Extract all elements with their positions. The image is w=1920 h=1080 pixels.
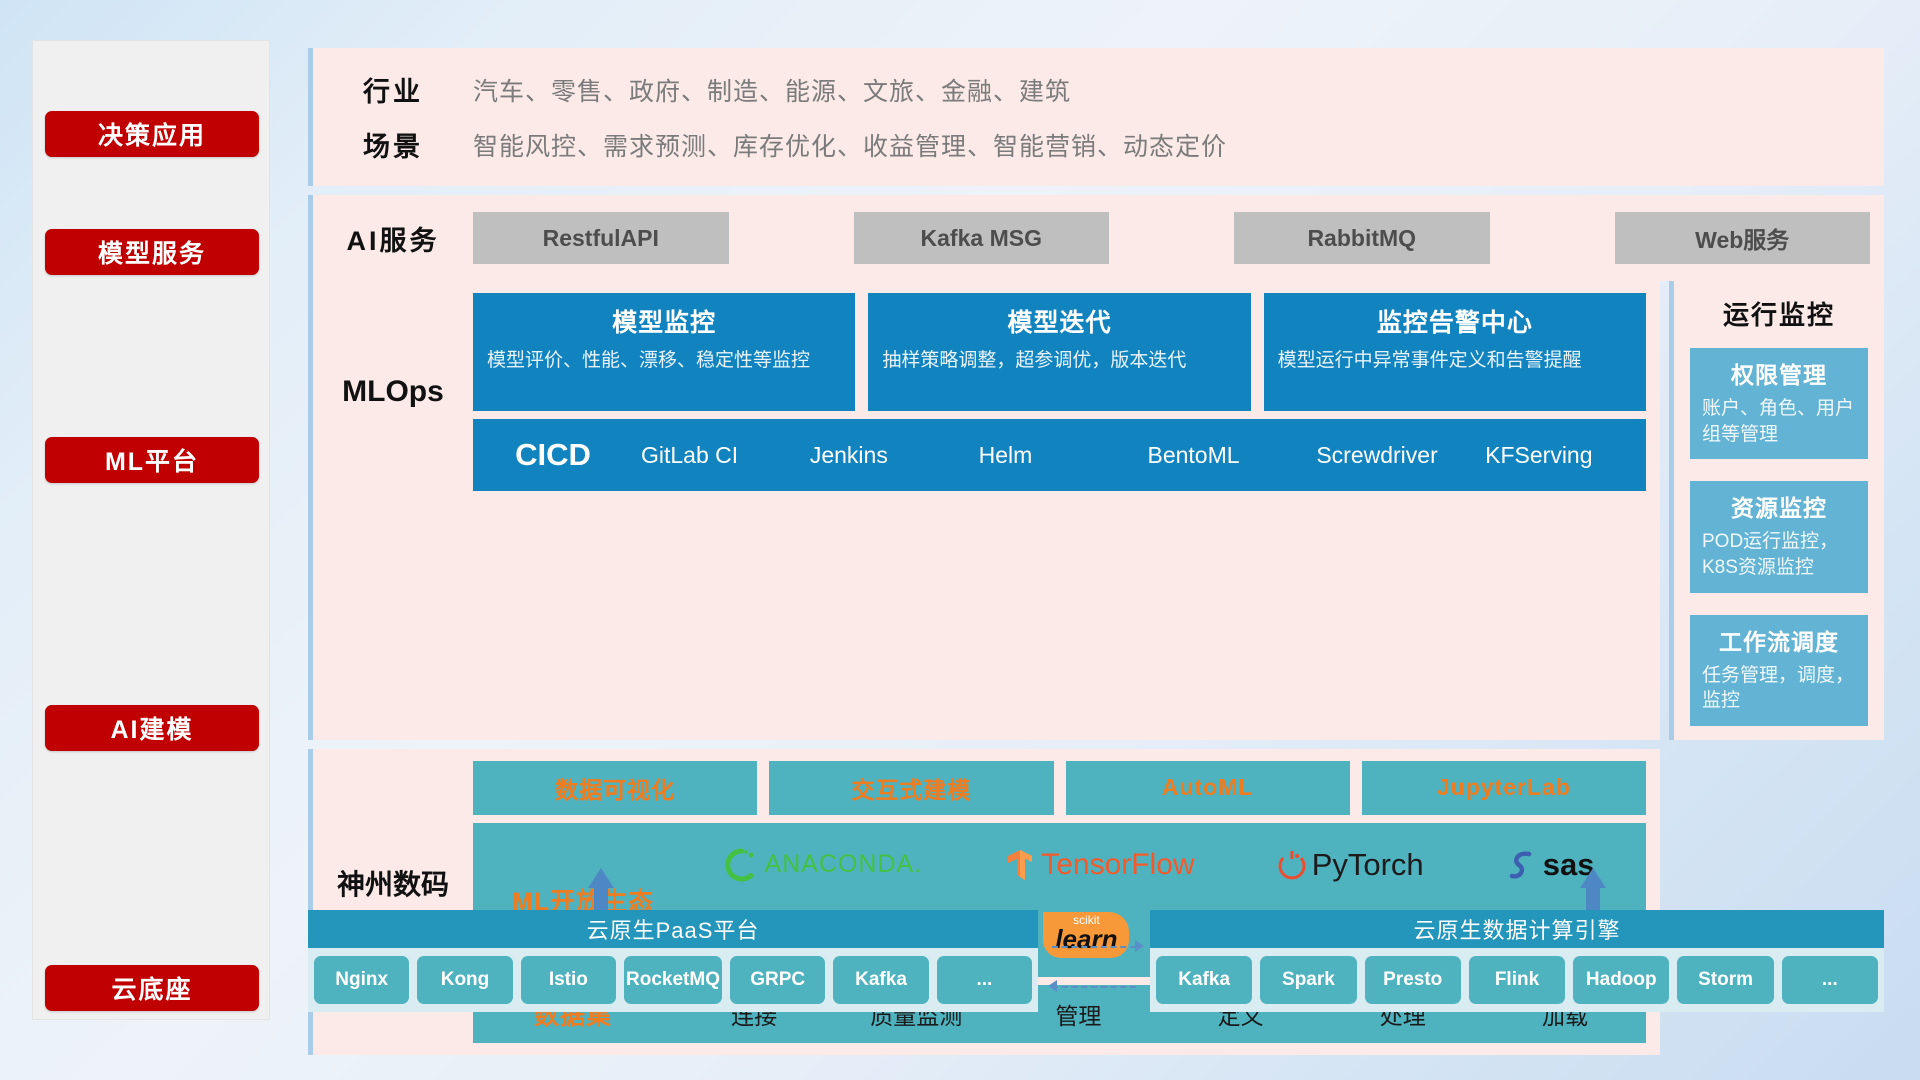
rail-item-cloud-base[interactable]: 云底座 (45, 965, 259, 1011)
ai-services-label: AI服务 (313, 219, 473, 258)
paas-group: 云原生PaaS平台 Nginx Kong Istio RocketMQ GRPC… (308, 910, 1038, 1012)
monitor-card-permission[interactable]: 权限管理 账户、角色、用户组等管理 (1690, 348, 1868, 459)
logo-line-1: ANACONDA. TensorFlow (683, 831, 1636, 899)
anaconda-logo: ANACONDA. (725, 848, 923, 882)
scenario-value: 智能风控、需求预测、库存优化、收益管理、智能营销、动态定价 (473, 127, 1227, 163)
tool-jupyterlab[interactable]: JupyterLab (1362, 761, 1646, 815)
paas-chip-nginx[interactable]: Nginx (314, 956, 409, 1004)
card-title: 工作流调度 (1702, 623, 1856, 657)
card-title: 资源监控 (1702, 489, 1856, 523)
card-desc: 任务管理，调度，监控 (1702, 663, 1856, 714)
scenario-row: 场景 智能风控、需求预测、库存优化、收益管理、智能营销、动态定价 (313, 125, 1884, 164)
rail-item-model-service[interactable]: 模型服务 (45, 229, 259, 275)
mlops-card-alert-center[interactable]: 监控告警中心 模型运行中异常事件定义和告警提醒 (1264, 293, 1646, 411)
card-desc: POD运行监控，K8S资源监控 (1702, 529, 1856, 580)
paas-chip-rocketmq[interactable]: RocketMQ (624, 956, 722, 1004)
rail-item-label: 云底座 (111, 970, 192, 1006)
pytorch-logo: PyTorch (1278, 847, 1424, 883)
cicd-row: CICD GitLab CI Jenkins Helm BentoML Scre… (473, 419, 1646, 491)
cicd-title: CICD (473, 437, 633, 473)
monitor-title: 运行监控 (1690, 295, 1868, 332)
tensorflow-icon (1005, 848, 1035, 882)
cicd-item-kfserving[interactable]: KFServing (1477, 439, 1646, 472)
compute-chip-flink[interactable]: Flink (1469, 956, 1565, 1004)
rail-item-ml-platform[interactable]: ML平台 (45, 437, 259, 483)
compute-chip-hadoop[interactable]: Hadoop (1573, 956, 1669, 1004)
ai-service-restfulapi[interactable]: RestfulAPI (473, 212, 729, 264)
tensorflow-logo: TensorFlow (1005, 848, 1194, 882)
arrow-up-compute-icon (1580, 868, 1606, 910)
rail-item-ai-modeling[interactable]: AI建模 (45, 705, 259, 751)
paas-title: 云原生PaaS平台 (308, 910, 1038, 948)
paas-chip-more[interactable]: ... (937, 956, 1032, 1004)
compute-chip-storm[interactable]: Storm (1677, 956, 1773, 1004)
industry-row: 行业 汽车、零售、政府、制造、能源、文旅、金融、建筑 (313, 70, 1884, 109)
ai-service-web[interactable]: Web服务 (1615, 212, 1871, 264)
mlops-card-model-monitoring[interactable]: 模型监控 模型评价、性能、漂移、稳定性等监控 (473, 293, 855, 411)
compute-group: 云原生数据计算引擎 Kafka Spark Presto Flink Hadoo… (1150, 910, 1884, 1012)
tool-interactive-modeling[interactable]: 交互式建模 (769, 761, 1053, 815)
ai-services-list: RestfulAPI Kafka MSG RabbitMQ Web服务 (473, 212, 1884, 264)
cicd-item-bentoml[interactable]: BentoML (1139, 439, 1308, 472)
paas-chip-kong[interactable]: Kong (417, 956, 512, 1004)
rail-item-label: AI建模 (110, 710, 193, 746)
anaconda-icon (725, 848, 759, 882)
mlops-card-model-iteration[interactable]: 模型迭代 抽样策略调整，超参调优，版本迭代 (868, 293, 1250, 411)
monitor-card-resource[interactable]: 资源监控 POD运行监控，K8S资源监控 (1690, 481, 1868, 592)
compute-chip-presto[interactable]: Presto (1365, 956, 1461, 1004)
mlops-label: MLOps (313, 293, 473, 491)
modeling-tool-list: 数据可视化 交互式建模 AutoML JupyterLab (473, 761, 1646, 815)
rail-item-decision-apps[interactable]: 决策应用 (45, 111, 259, 157)
rail-item-label: ML平台 (105, 442, 199, 478)
ai-services-band: AI服务 RestfulAPI Kafka MSG RabbitMQ Web服务 (308, 195, 1884, 281)
monitor-card-workflow[interactable]: 工作流调度 任务管理，调度，监控 (1690, 615, 1868, 726)
industry-label: 行业 (313, 70, 473, 109)
paas-chip-istio[interactable]: Istio (521, 956, 616, 1004)
cicd-item-helm[interactable]: Helm (971, 439, 1140, 472)
compute-chip-kafka[interactable]: Kafka (1156, 956, 1252, 1004)
arrow-up-paas-icon (588, 868, 614, 910)
architecture-diagram: 决策应用 模型服务 ML平台 AI建模 云底座 行业 汽车、零售、政府、制造、能… (0, 0, 1920, 1080)
compute-chip-spark[interactable]: Spark (1260, 956, 1356, 1004)
mlops-card-list: 模型监控 模型评价、性能、漂移、稳定性等监控 模型迭代 抽样策略调整，超参调优，… (473, 293, 1646, 411)
cicd-item-jenkins[interactable]: Jenkins (802, 439, 971, 472)
pytorch-icon (1278, 849, 1306, 881)
ml-platform-band: MLOps 模型监控 模型评价、性能、漂移、稳定性等监控 模型迭代 抽样策略调整… (308, 281, 1884, 740)
anaconda-label: ANACONDA. (765, 850, 923, 879)
ai-service-rabbitmq[interactable]: RabbitMQ (1234, 212, 1490, 264)
ai-service-kafka-msg[interactable]: Kafka MSG (854, 212, 1110, 264)
cicd-item-list: GitLab CI Jenkins Helm BentoML Screwdriv… (633, 439, 1646, 472)
card-desc: 模型运行中异常事件定义和告警提醒 (1278, 348, 1632, 374)
scenario-label: 场景 (313, 125, 473, 164)
bidirectional-link-icon (1048, 940, 1144, 996)
tensorflow-label: TensorFlow (1041, 848, 1194, 882)
cicd-item-screwdriver[interactable]: Screwdriver (1308, 439, 1477, 472)
runtime-monitoring-panel: 运行监控 权限管理 账户、角色、用户组等管理 资源监控 POD运行监控，K8S资… (1669, 281, 1884, 740)
compute-chip-list: Kafka Spark Presto Flink Hadoop Storm ..… (1150, 948, 1884, 1012)
tool-automl[interactable]: AutoML (1066, 761, 1350, 815)
compute-title: 云原生数据计算引擎 (1150, 910, 1884, 948)
card-title: 模型迭代 (882, 303, 1236, 339)
card-title: 权限管理 (1702, 356, 1856, 390)
mlops-panel: MLOps 模型监控 模型评价、性能、漂移、稳定性等监控 模型迭代 抽样策略调整… (308, 281, 1660, 740)
pytorch-label: PyTorch (1312, 847, 1424, 883)
rail-item-label: 模型服务 (98, 234, 206, 270)
paas-chip-kafka[interactable]: Kafka (833, 956, 928, 1004)
card-title: 监控告警中心 (1278, 303, 1632, 339)
compute-chip-more[interactable]: ... (1782, 956, 1878, 1004)
cicd-item-gitlab-ci[interactable]: GitLab CI (633, 439, 802, 472)
decision-apps-band: 行业 汽车、零售、政府、制造、能源、文旅、金融、建筑 场景 智能风控、需求预测、… (308, 48, 1884, 186)
layer-rail: 决策应用 模型服务 ML平台 AI建模 云底座 (32, 40, 270, 1020)
rail-item-label: 决策应用 (98, 116, 206, 152)
paas-chip-list: Nginx Kong Istio RocketMQ GRPC Kafka ... (308, 948, 1038, 1012)
card-title: 模型监控 (487, 303, 841, 339)
sas-icon (1507, 849, 1537, 881)
tool-data-visualization[interactable]: 数据可视化 (473, 761, 757, 815)
cloud-base-band: 云原生PaaS平台 Nginx Kong Istio RocketMQ GRPC… (308, 890, 1884, 1040)
card-desc: 抽样策略调整，超参调优，版本迭代 (882, 348, 1236, 374)
industry-value: 汽车、零售、政府、制造、能源、文旅、金融、建筑 (473, 72, 1071, 108)
card-desc: 模型评价、性能、漂移、稳定性等监控 (487, 348, 841, 374)
paas-chip-grpc[interactable]: GRPC (730, 956, 825, 1004)
card-desc: 账户、角色、用户组等管理 (1702, 396, 1856, 447)
